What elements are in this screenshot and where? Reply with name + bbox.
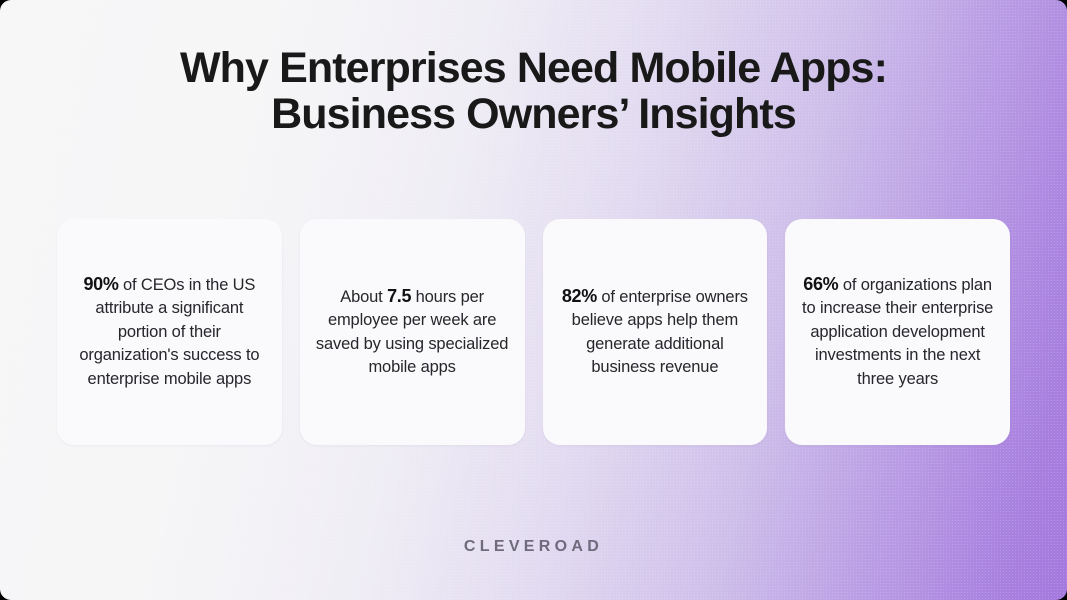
stat-value: 66% (803, 274, 838, 294)
stat-description: of enterprise owners believe apps help t… (572, 288, 748, 377)
stat-card: 66% of organizations plan to increase th… (785, 219, 1010, 445)
stat-card-list: 90% of CEOs in the US attribute a signif… (57, 219, 1010, 445)
stat-card: About 7.5 hours per employee per week ar… (300, 219, 525, 445)
stat-card-text: 82% of enterprise owners believe apps he… (559, 285, 752, 380)
brand-wordmark: CLEVEROAD (464, 538, 603, 556)
infographic-canvas: Why Enterprises Need Mobile Apps: Busine… (0, 0, 1067, 600)
stat-card: 90% of CEOs in the US attribute a signif… (57, 219, 282, 445)
stat-card-text: 90% of CEOs in the US attribute a signif… (73, 273, 266, 392)
stat-prefix: About (340, 288, 387, 306)
title-line-2: Business Owners’ Insights (0, 91, 1067, 137)
title-line-1: Why Enterprises Need Mobile Apps: (0, 45, 1067, 91)
stat-card: 82% of enterprise owners believe apps he… (543, 219, 768, 445)
stat-value: 90% (83, 274, 118, 294)
stat-card-text: About 7.5 hours per employee per week ar… (316, 285, 509, 380)
stat-value: 82% (562, 286, 597, 306)
stat-value: 7.5 (387, 286, 411, 306)
footer: CLEVEROAD (0, 538, 1067, 556)
stat-card-text: 66% of organizations plan to increase th… (801, 273, 994, 392)
page-title: Why Enterprises Need Mobile Apps: Busine… (0, 45, 1067, 137)
